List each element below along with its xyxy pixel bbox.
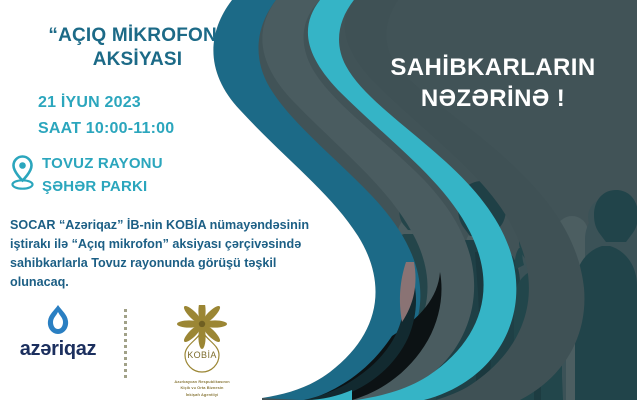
headline: SAHİBKARLARIN NƏZƏRİNƏ ! [352, 52, 634, 114]
logo-divider [124, 309, 127, 381]
azeriqaz-wordmark: azəriqaz [20, 339, 97, 359]
headline-line-1: SAHİBKARLARIN [352, 52, 634, 83]
event-location: TOVUZ RAYONU ŞƏHƏR PARKI [10, 152, 163, 199]
map-pin-icon [10, 154, 35, 192]
kobia-logo: KOBİA Azərbaycan Respublikasının Kiçik v… [143, 305, 261, 398]
azeriqaz-logo: azəriqaz [8, 305, 108, 359]
location-text: TOVUZ RAYONU ŞƏHƏR PARKI [42, 152, 163, 199]
location-line-2: ŞƏHƏR PARKI [42, 176, 163, 199]
kobia-flower-icon: KOBİA [165, 305, 239, 377]
left-content-panel: “AÇIQ MİKROFON” AKSİYASI 21 İYUN 2023 SA… [0, 0, 335, 400]
event-time: SAAT 10:00-11:00 [38, 116, 174, 142]
logo-strip: azəriqaz [8, 305, 261, 398]
title-line-1: “AÇIQ MİKROFON” [0, 24, 275, 48]
gas-flame-icon [45, 305, 71, 335]
event-description: SOCAR “Azəriqaz” İB-nin KOBİA nümayəndəs… [10, 216, 330, 293]
kobia-caption-line-3: İnkişafı Agentliyi [143, 392, 261, 398]
svg-text:KOBİA: KOBİA [187, 350, 217, 360]
event-date: 21 İYUN 2023 [38, 90, 174, 116]
title-line-2: AKSİYASI [0, 48, 275, 72]
headline-line-2: NƏZƏRİNƏ ! [352, 83, 634, 114]
kobia-caption: Azərbaycan Respublikasının Kiçik və Orta… [143, 379, 261, 398]
event-datetime: 21 İYUN 2023 SAAT 10:00-11:00 [38, 90, 174, 142]
page-title: “AÇIQ MİKROFON” AKSİYASI [0, 24, 275, 73]
poster-canvas: “AÇIQ MİKROFON” AKSİYASI 21 İYUN 2023 SA… [0, 0, 637, 400]
location-line-1: TOVUZ RAYONU [42, 153, 163, 176]
